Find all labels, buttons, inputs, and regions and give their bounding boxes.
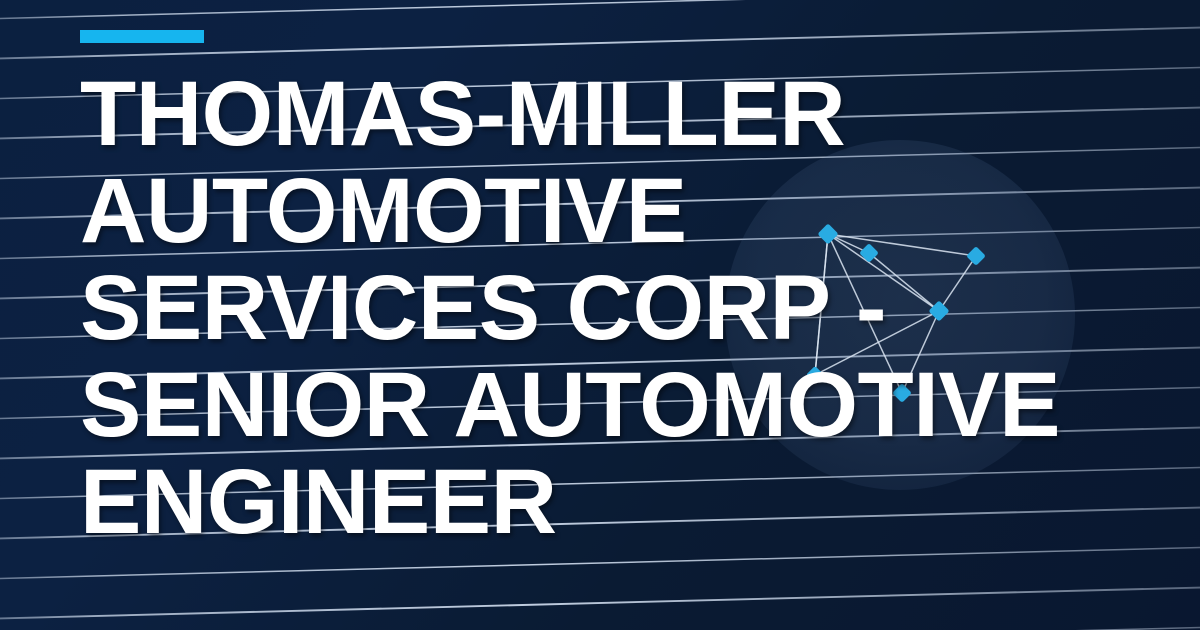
social-share-banner: Thomas-Miller Automotive Services Corp -… xyxy=(0,0,1200,630)
stripe-line xyxy=(0,0,1200,20)
accent-bar xyxy=(80,30,204,43)
page-title: Thomas-Miller Automotive Services Corp -… xyxy=(80,66,1080,551)
stripe-line xyxy=(0,586,1200,620)
stripe-line xyxy=(0,626,1200,630)
content-block: Thomas-Miller Automotive Services Corp -… xyxy=(80,30,1090,551)
